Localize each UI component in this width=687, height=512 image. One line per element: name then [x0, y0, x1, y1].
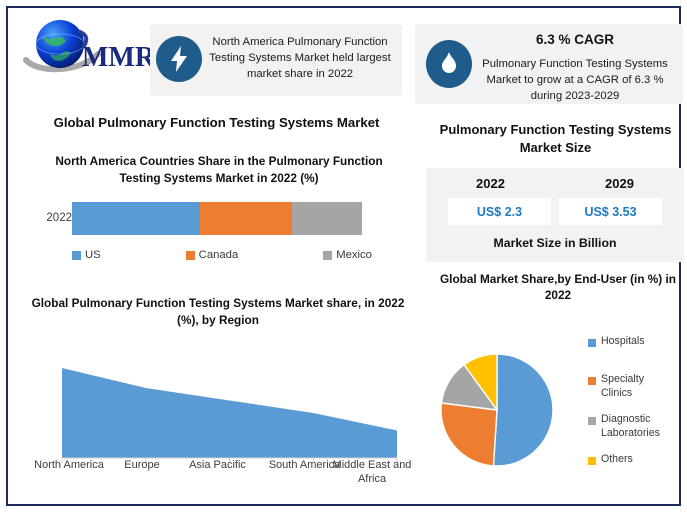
- bar-chart-title: North America Countries Share in the Pul…: [34, 153, 404, 187]
- legend-label-hospitals: Hospitals: [601, 335, 645, 349]
- area-axis-labels: North America Europe Asia Pacific South …: [22, 458, 412, 504]
- legend-label-specialty-clinics: Specialty Clinics: [601, 373, 678, 400]
- page-title: Global Pulmonary Function Testing System…: [24, 115, 409, 130]
- legend-label-canada: Canada: [199, 249, 239, 261]
- area-label-middle-east-africa: Middle East and Africa: [332, 458, 412, 486]
- market-size-title: Pulmonary Function Testing Systems Marke…: [423, 121, 687, 157]
- area-chart-title: Global Pulmonary Function Testing System…: [28, 295, 408, 329]
- legend-item-specialty-clinics: Specialty Clinics: [588, 373, 678, 400]
- market-size-value-2022: US$ 2.3: [448, 198, 551, 225]
- legend-item-us: US: [72, 246, 101, 264]
- highlight-card-right: 6.3 % CAGR Pulmonary Function Testing Sy…: [415, 24, 683, 104]
- flame-icon: [426, 40, 472, 88]
- legend-item-mexico: Mexico: [323, 246, 372, 264]
- pie-chart-legend: Hospitals Specialty Clinics Diagnostic L…: [588, 335, 687, 475]
- pie-chart: [440, 353, 560, 473]
- highlight-right-text: Pulmonary Function Testing Systems Marke…: [473, 56, 677, 104]
- svg-text:MMR: MMR: [82, 42, 150, 73]
- legend-swatch-diagnostic-laboratories: [588, 417, 596, 425]
- area-chart: North America Europe Asia Pacific South …: [22, 338, 412, 508]
- legend-label-diagnostic-laboratories: Diagnostic Laboratories: [601, 413, 684, 440]
- header: MMR North America Pulmonary Function Tes…: [8, 8, 679, 104]
- legend-item-canada: Canada: [186, 246, 239, 264]
- legend-item-hospitals: Hospitals: [588, 335, 645, 349]
- market-size-year-2029: 2029: [555, 176, 684, 191]
- mmr-logo: MMR: [20, 14, 150, 86]
- bar-chart: 2022 US Canada Mexico: [18, 198, 408, 278]
- legend-swatch-canada: [186, 251, 195, 260]
- infographic-page: MMR North America Pulmonary Function Tes…: [0, 0, 687, 512]
- legend-label-others: Others: [601, 453, 633, 467]
- bar-segment-mexico: [292, 202, 362, 235]
- legend-swatch-others: [588, 457, 596, 465]
- legend-item-others: Others: [588, 453, 633, 467]
- pie-slice: [441, 403, 497, 466]
- area-chart-svg: [22, 338, 412, 468]
- bar-segment-canada: [200, 202, 293, 235]
- legend-label-mexico: Mexico: [336, 249, 372, 261]
- bar-segment-us: [72, 202, 200, 235]
- legend-swatch-mexico: [323, 251, 332, 260]
- bar-category-label: 2022: [26, 212, 72, 224]
- pie-chart-svg: [440, 353, 554, 467]
- pie-chart-title: Global Market Share,by End-User (in %) i…: [428, 271, 687, 303]
- market-size-years: 2022 2029: [426, 176, 684, 191]
- cagr-value: 6.3 % CAGR: [473, 32, 677, 47]
- globe-swoosh-icon: MMR: [20, 14, 150, 86]
- stacked-bar-track: [72, 202, 362, 235]
- market-size-value-2029: US$ 3.53: [559, 198, 662, 225]
- market-size-values: US$ 2.3 US$ 3.53: [426, 198, 684, 225]
- legend-swatch-us: [72, 251, 81, 260]
- lightning-bolt-icon: [156, 36, 202, 82]
- area-label-asia-pacific: Asia Pacific: [170, 458, 265, 472]
- bar-chart-legend: US Canada Mexico: [72, 246, 372, 264]
- market-size-year-2022: 2022: [426, 176, 555, 191]
- legend-label-us: US: [85, 249, 101, 261]
- highlight-card-left: North America Pulmonary Function Testing…: [150, 24, 402, 96]
- area-series-region: [62, 368, 397, 458]
- legend-item-diagnostic-laboratories: Diagnostic Laboratories: [588, 413, 684, 440]
- infographic-frame: MMR North America Pulmonary Function Tes…: [6, 6, 681, 506]
- market-size-panel: 2022 2029 US$ 2.3 US$ 3.53 Market Size i…: [426, 168, 684, 262]
- legend-swatch-specialty-clinics: [588, 377, 596, 385]
- legend-swatch-hospitals: [588, 339, 596, 347]
- highlight-left-text: North America Pulmonary Function Testing…: [202, 34, 398, 82]
- market-size-footer: Market Size in Billion: [426, 236, 684, 250]
- pie-slice: [493, 354, 553, 466]
